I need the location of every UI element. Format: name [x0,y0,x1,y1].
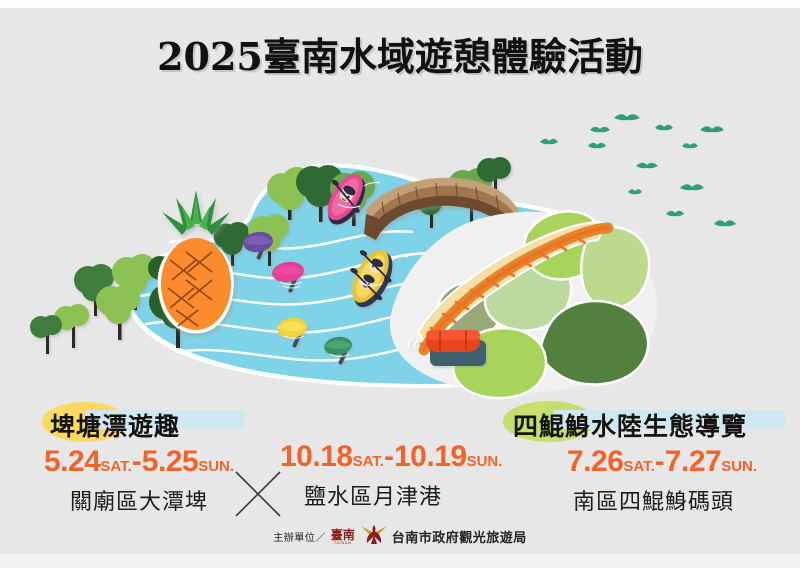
event-1-dow-start: SAT. [100,458,131,475]
event-2-dow-end: SUN. [467,453,503,470]
event-1-date: 5.24SAT.-5.25SUN. [44,447,242,477]
tainan-logo-cn: 臺南 [331,529,355,541]
event-3-date-start: 7.26 [567,445,623,478]
event-block-2: 10.18SAT.-10.19SUN. 鹽水區月津港 [280,442,502,511]
event-1-date-start: 5.24 [44,445,100,478]
event-2-date-dash: - [384,440,394,473]
event-3-date: 7.26SAT.-7.27SUN. [567,447,775,477]
event-3-date-dash: - [655,445,665,478]
event-block-1: 埤塘漂遊趣 5.24SAT.-5.25SUN. 關廟區大潭埤 [42,404,242,516]
divider-x-icon [231,467,285,526]
event-1-heading: 埤塘漂遊趣 [42,404,242,443]
event-3-heading: 四鯤鯓水陸生態導覽 [505,404,775,443]
event-2-place: 鹽水區月津港 [304,479,502,511]
tainan-bird-emblem-icon [360,523,388,550]
event-1-dow-end: SUN. [198,458,234,475]
poster-canvas: 2025臺南水域遊憩體驗活動 [0,0,800,568]
page-title: 2025臺南水域遊憩體驗活動 [0,26,800,81]
event-2-date-end: 10.19 [394,440,467,473]
event-2-date-start: 10.18 [280,440,353,473]
event-3-dow-end: SUN. [721,458,757,475]
event-3-dow-start: SAT. [623,458,654,475]
event-1-place: 關廟區大潭埤 [70,484,242,516]
event-3-date-end: 7.27 [665,445,721,478]
flying-birds [540,114,736,226]
event-1-date-end: 5.25 [142,445,198,478]
organizer-label: 主辦單位／ [273,529,326,544]
event-3-place: 南區四鯤鯓碼頭 [573,484,775,516]
event-1-heading-wrap: 埤塘漂遊趣 [42,404,242,438]
event-1-date-dash: - [132,445,142,478]
footer-credits: 主辦單位／ 臺南 TAINAN 台南市政府觀光旅遊局 [0,523,800,550]
pineapple-icon [158,190,234,333]
event-2-dow-start: SAT. [353,453,384,470]
organization-name: 台南市政府觀光旅遊局 [392,527,527,546]
bottom-edge-strip [0,554,800,568]
event-block-3: 四鯤鯓水陸生態導覽 7.26SAT.-7.27SUN. 南區四鯤鯓碼頭 [505,404,775,516]
event-2-date: 10.18SAT.-10.19SUN. [280,442,502,472]
top-edge-strip [0,0,800,8]
tainan-logo: 臺南 TAINAN [331,529,355,545]
tainan-logo-en: TAINAN [334,541,352,545]
event-3-heading-wrap: 四鯤鯓水陸生態導覽 [505,404,775,438]
illustration-scene [0,82,800,402]
